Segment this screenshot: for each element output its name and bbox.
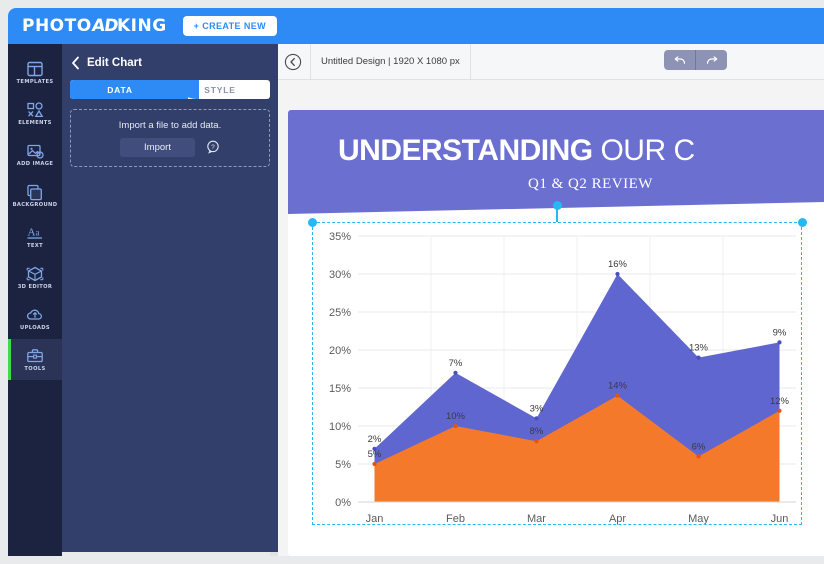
selection-handle-top-left[interactable] bbox=[308, 218, 317, 227]
cube-icon bbox=[25, 265, 45, 283]
sidebar-item-add-image[interactable]: ADD IMAGE bbox=[8, 134, 62, 175]
sidebar-label-elements: ELEMENTS bbox=[18, 121, 52, 126]
chart-object[interactable]: 0%5%10%15%20%25%30%35%2%7%3%16%13%9%5%10… bbox=[312, 222, 814, 542]
brand-bar: PHOTOADKING + CREATE NEW bbox=[8, 8, 824, 44]
toolbar-divider-2 bbox=[470, 44, 471, 80]
sidebar-item-tools[interactable]: TOOLS bbox=[8, 339, 62, 380]
import-dropzone[interactable]: Import a file to add data. Import ? bbox=[70, 109, 270, 167]
panel-title: Edit Chart bbox=[87, 57, 142, 69]
data-style-toggle[interactable]: DATA STYLE bbox=[70, 80, 270, 99]
redo-button[interactable] bbox=[696, 50, 727, 70]
toolbox-icon bbox=[25, 347, 45, 365]
tab-data[interactable]: DATA bbox=[70, 80, 170, 99]
panel-header: Edit Chart bbox=[62, 44, 278, 70]
toolbar-divider-1 bbox=[310, 44, 311, 80]
sidebar-label-uploads: UPLOADS bbox=[20, 326, 50, 331]
editor-area: Untitled Design | 1920 X 1080 px UNDERST… bbox=[278, 44, 824, 556]
design-canvas[interactable]: UNDERSTANDING OUR C Q1 & Q2 REVIEW 0%5%1… bbox=[288, 110, 824, 556]
selection-bounding-box bbox=[312, 222, 802, 525]
banner-title-light: OUR C bbox=[593, 134, 695, 167]
svg-text:A: A bbox=[28, 226, 36, 238]
sidebar-item-uploads[interactable]: UPLOADS bbox=[8, 298, 62, 339]
sidebar-item-3d-editor[interactable]: 3D EDITOR bbox=[8, 257, 62, 298]
sidebar-label-background: BACKGROUND bbox=[13, 203, 58, 208]
logo-photo: PHOTO bbox=[22, 16, 92, 36]
sidebar-label-text: TEXT bbox=[27, 244, 43, 249]
background-icon bbox=[25, 183, 45, 201]
help-icon[interactable]: ? bbox=[206, 140, 220, 154]
sidebar-item-text[interactable]: Aa TEXT bbox=[8, 216, 62, 257]
logo-ad: AD bbox=[90, 16, 118, 36]
undo-button[interactable] bbox=[664, 50, 695, 70]
rotation-handle[interactable] bbox=[553, 201, 562, 210]
import-controls: Import ? bbox=[120, 138, 220, 157]
create-new-button[interactable]: + CREATE NEW bbox=[183, 16, 277, 36]
app-logo: PHOTOADKING bbox=[22, 16, 167, 36]
upload-cloud-icon bbox=[25, 306, 45, 324]
sidebar-item-elements[interactable]: ELEMENTS bbox=[8, 93, 62, 134]
banner-title-bold: UNDERSTANDING bbox=[338, 134, 593, 167]
selection-handle-top-right[interactable] bbox=[798, 218, 807, 227]
banner-subtitle: Q1 & Q2 REVIEW bbox=[528, 176, 653, 193]
sidebar-label-tools: TOOLS bbox=[24, 367, 45, 372]
svg-text:?: ? bbox=[211, 144, 215, 151]
sidebar-label-templates: TEMPLATES bbox=[17, 80, 54, 85]
tab-style[interactable]: STYLE bbox=[170, 80, 270, 99]
sidebar-item-background[interactable]: BACKGROUND bbox=[8, 175, 62, 216]
undo-redo-group bbox=[664, 50, 727, 70]
left-rail: TEMPLATES ELEMENTS ADD IMAGE BACKGROUND … bbox=[8, 44, 62, 556]
document-title[interactable]: Untitled Design | 1920 X 1080 px bbox=[321, 56, 460, 67]
sidebar-item-templates[interactable]: TEMPLATES bbox=[8, 52, 62, 93]
chevron-left-icon[interactable] bbox=[71, 56, 80, 70]
app-root: PHOTOADKING + CREATE NEW TEMPLATES ELEME… bbox=[0, 0, 824, 564]
sidebar-label-add-image: ADD IMAGE bbox=[17, 162, 54, 167]
document-toolbar: Untitled Design | 1920 X 1080 px bbox=[278, 44, 824, 80]
back-circle-icon[interactable] bbox=[284, 53, 302, 71]
text-icon: Aa bbox=[25, 224, 45, 242]
elements-icon bbox=[25, 101, 45, 119]
import-button[interactable]: Import bbox=[120, 138, 195, 157]
banner-title: UNDERSTANDING OUR C bbox=[338, 134, 695, 168]
import-prompt: Import a file to add data. bbox=[119, 120, 221, 131]
sidebar-label-3d-editor: 3D EDITOR bbox=[18, 285, 53, 290]
templates-icon bbox=[25, 60, 45, 78]
svg-text:a: a bbox=[36, 227, 40, 237]
add-image-icon bbox=[25, 142, 45, 160]
logo-king: KING bbox=[117, 16, 167, 36]
edit-chart-panel: Edit Chart DATA STYLE Import a file to a… bbox=[62, 44, 278, 552]
